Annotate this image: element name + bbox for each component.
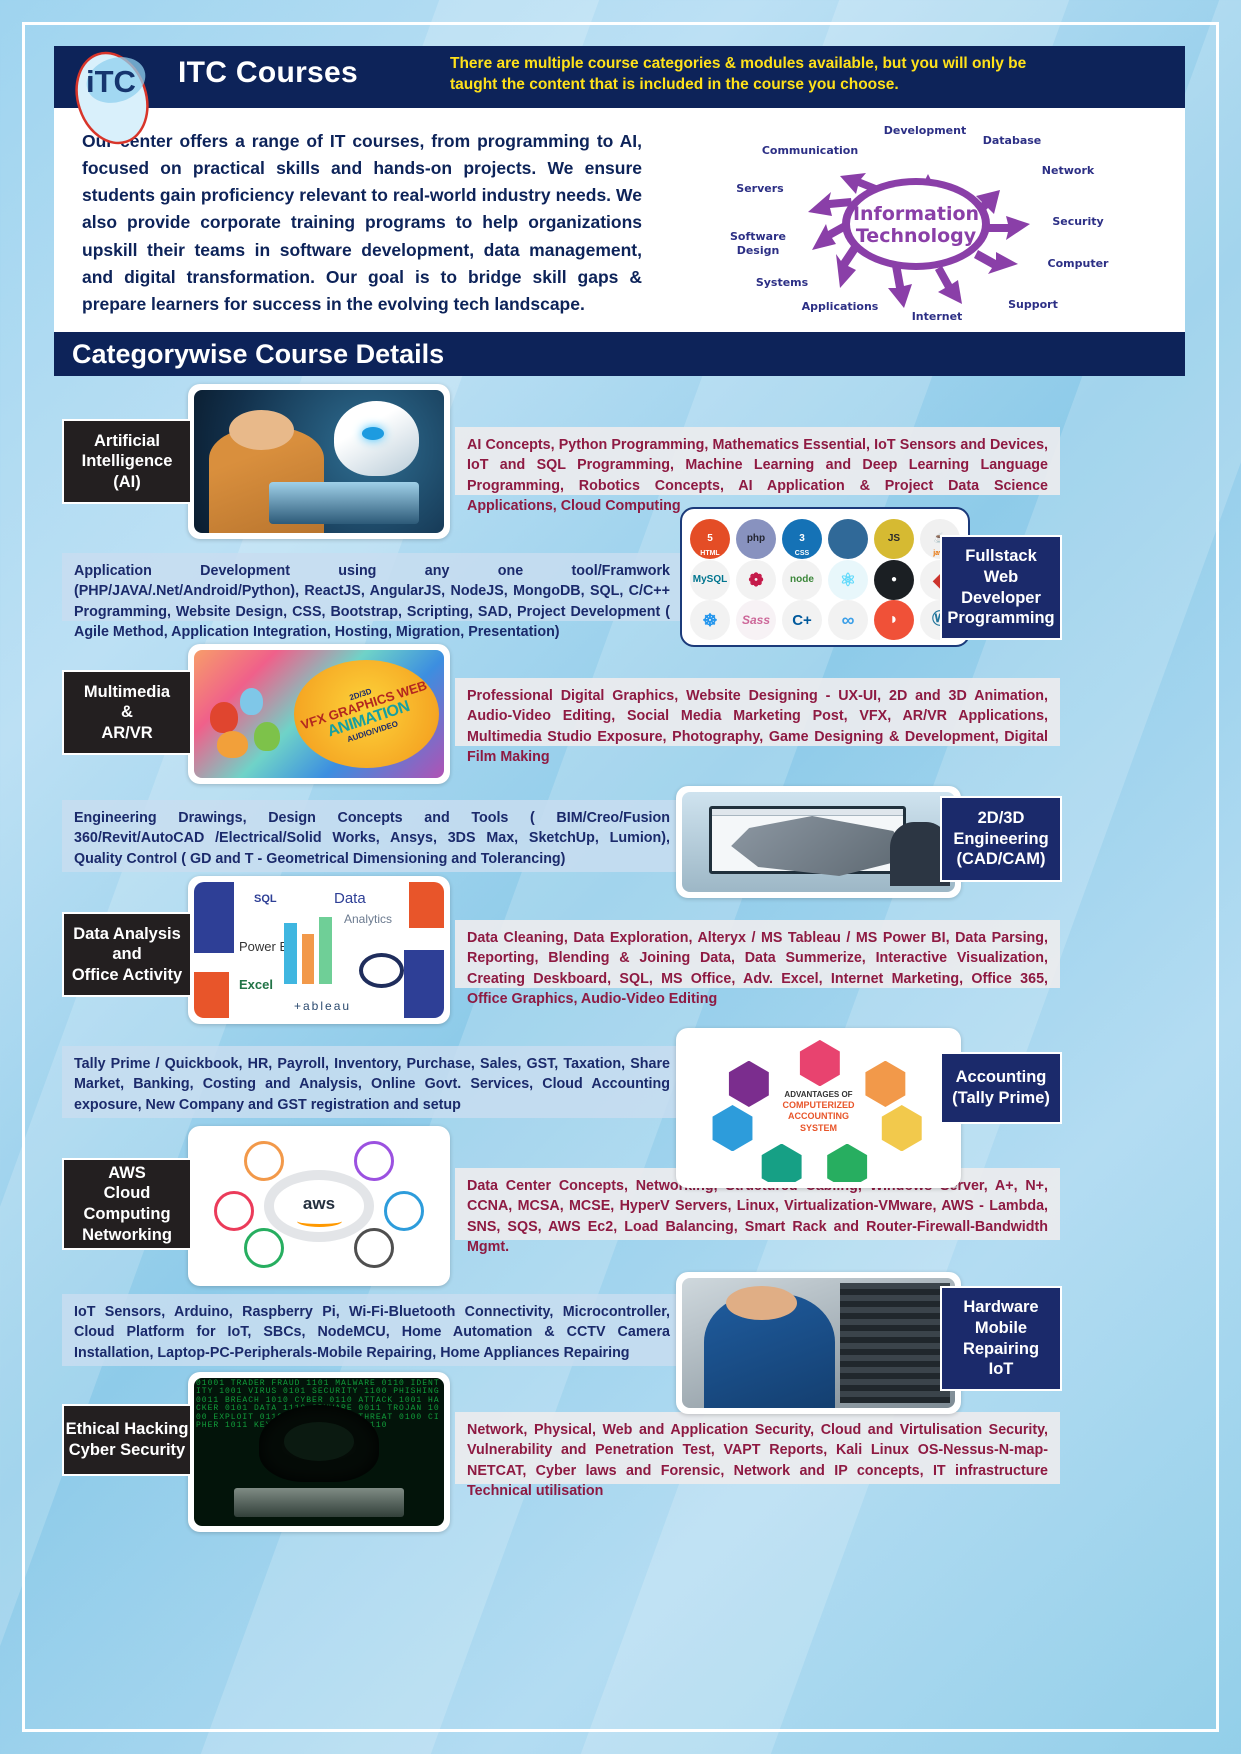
infinity-icon: ∞ bbox=[828, 600, 868, 640]
data-excel-label: Excel bbox=[239, 977, 273, 992]
it-label-security: Security bbox=[1052, 215, 1103, 228]
hex-saves-money bbox=[879, 1105, 925, 1151]
course-description-artificial-intelligence: AI Concepts, Python Programming, Mathema… bbox=[455, 427, 1060, 495]
thumbnail-artificial-intelligence bbox=[188, 384, 450, 539]
course-description-hardware-mobile-iot: IoT Sensors, Arduino, Raspberry Pi, Wi-F… bbox=[62, 1294, 682, 1366]
information-technology-diagram: Information Technology Development Datab… bbox=[700, 112, 1160, 330]
javascript-icon: JS bbox=[874, 519, 914, 559]
logo-caption: CSS bbox=[782, 550, 822, 557]
course-description-2d-3d-engineering: Engineering Drawings, Design Concepts an… bbox=[62, 800, 682, 872]
aws-node-data-streaming bbox=[214, 1191, 254, 1231]
thumbnail-data-analysis: SQL Data Analytics Power BI Excel +ablea… bbox=[188, 876, 450, 1024]
it-label-software-design-line2: Design bbox=[737, 244, 780, 257]
section-title-bar: Categorywise Course Details bbox=[54, 332, 1185, 376]
it-label-servers: Servers bbox=[736, 182, 784, 195]
github-icon: ● bbox=[874, 560, 914, 600]
data-tableau-label: +ableau bbox=[294, 999, 351, 1013]
swift-icon: ◗ bbox=[874, 600, 914, 640]
docker-icon: ☸ bbox=[690, 600, 730, 640]
category-label-aws-cloud-computing[interactable]: AWS Cloud Computing Networking bbox=[62, 1158, 192, 1250]
php-icon: php bbox=[736, 519, 776, 559]
cat-line: Artificial bbox=[82, 431, 173, 452]
toon-characters bbox=[204, 676, 309, 766]
cat-line: AWS bbox=[64, 1163, 190, 1184]
it-label-systems: Systems bbox=[756, 276, 809, 289]
category-label-2d-3d-engineering[interactable]: 2D/3D Engineering (CAD/CAM) bbox=[940, 796, 1062, 882]
hex-highly-secure bbox=[709, 1105, 755, 1151]
cat-line: Programming bbox=[947, 608, 1054, 629]
aws-node-security-compliance bbox=[244, 1228, 284, 1268]
cat-line: IoT bbox=[963, 1359, 1039, 1380]
data-sql-label: SQL bbox=[254, 893, 277, 905]
it-label-network: Network bbox=[1042, 164, 1095, 177]
sass-icon: Sass bbox=[736, 600, 776, 640]
cat-line: Networking bbox=[64, 1225, 190, 1246]
course-description-ethical-hacking: Network, Physical, Web and Application S… bbox=[455, 1412, 1060, 1484]
cat-line: (Tally Prime) bbox=[952, 1088, 1050, 1109]
acc-center2: COMPUTERIZED bbox=[783, 1100, 855, 1111]
hex-easy-tax-management bbox=[726, 1061, 772, 1107]
it-label-support: Support bbox=[1008, 298, 1058, 311]
category-label-fullstack-web-developer[interactable]: Fullstack Web Developer Programming bbox=[940, 535, 1062, 640]
thumbnail-aws: aws bbox=[188, 1126, 450, 1286]
category-label-artificial-intelligence[interactable]: Artificial Intelligence (AI) bbox=[62, 419, 192, 504]
cat-line: (AI) bbox=[82, 472, 173, 493]
react-icon: ⚛ bbox=[828, 560, 868, 600]
it-center-line2: Technology bbox=[856, 225, 977, 247]
css3-icon: 3CSS bbox=[782, 519, 822, 559]
cat-line: Multimedia bbox=[84, 682, 170, 703]
cat-line: Engineering bbox=[953, 829, 1048, 850]
thumbnail-hardware-mobile-iot bbox=[676, 1272, 961, 1414]
data-title1: Data bbox=[334, 890, 366, 907]
logo-caption: HTML bbox=[690, 550, 730, 557]
thumbnail-ethical-hacking: 01001 TRADER FRAUD 1101 MALWARE 0110 IDE… bbox=[188, 1372, 450, 1532]
it-label-internet: Internet bbox=[912, 310, 963, 323]
section-title: Categorywise Course Details bbox=[54, 339, 444, 370]
cat-line: and bbox=[72, 944, 182, 965]
cat-line: Developer bbox=[947, 588, 1054, 609]
it-label-software-design-line1: Software bbox=[730, 230, 786, 243]
acc-center1: ADVANTAGES OF bbox=[783, 1090, 855, 1100]
cat-line: 2D/3D bbox=[953, 808, 1048, 829]
it-label-development: Development bbox=[884, 124, 966, 137]
hex-invoicing bbox=[797, 1040, 843, 1086]
aws-node-web-hosting bbox=[354, 1228, 394, 1268]
node-js-icon: node bbox=[782, 560, 822, 600]
thumbnail-accounting: ADVANTAGES OF COMPUTERIZED ACCOUNTING SY… bbox=[676, 1028, 961, 1188]
it-label-computer: Computer bbox=[1048, 257, 1110, 270]
cat-line: Hardware bbox=[963, 1297, 1039, 1318]
cat-line: Web bbox=[947, 567, 1054, 588]
course-description-fullstack-web-developer: Application Development using any one to… bbox=[62, 553, 682, 621]
thumbnail-2d-3d-engineering bbox=[676, 786, 961, 898]
hex-real-time-information bbox=[758, 1144, 804, 1182]
category-label-hardware-mobile-iot[interactable]: Hardware Mobile Repairing IoT bbox=[940, 1286, 1062, 1391]
course-description-multimedia-arvr: Professional Digital Graphics, Website D… bbox=[455, 678, 1060, 746]
aws-node-compute-storage bbox=[244, 1141, 284, 1181]
category-label-accounting[interactable]: Accounting (Tally Prime) bbox=[940, 1052, 1062, 1124]
aws-node-database-service bbox=[354, 1141, 394, 1181]
cat-line: Accounting bbox=[952, 1067, 1050, 1088]
category-label-ethical-hacking[interactable]: Ethical Hacking Cyber Security bbox=[62, 1404, 192, 1476]
cat-line: Intelligence bbox=[82, 451, 173, 472]
html5-icon: 5HTML bbox=[690, 519, 730, 559]
cat-line: Mobile bbox=[963, 1318, 1039, 1339]
aws-center-label: aws bbox=[303, 1194, 335, 1214]
mysql-icon: MySQL bbox=[690, 560, 730, 600]
raspberry-pi-icon: ❁ bbox=[736, 560, 776, 600]
it-label-applications: Applications bbox=[802, 300, 879, 313]
cat-line: Cloud Computing bbox=[64, 1183, 190, 1224]
header-note: There are multiple course categories & m… bbox=[450, 54, 1070, 96]
aws-node-monitoring bbox=[384, 1191, 424, 1231]
python-icon bbox=[828, 519, 868, 559]
cat-line: AR/VR bbox=[84, 723, 170, 744]
it-label-database: Database bbox=[983, 134, 1042, 147]
it-center-line1: Information bbox=[853, 203, 979, 225]
course-description-accounting: Tally Prime / Quickbook, HR, Payroll, In… bbox=[62, 1046, 682, 1118]
hex-highly-reliable bbox=[824, 1144, 870, 1182]
cat-line: Ethical Hacking bbox=[66, 1419, 189, 1440]
category-label-data-analysis[interactable]: Data Analysis and Office Activity bbox=[62, 912, 192, 997]
acc-center4: SYSTEM bbox=[783, 1123, 855, 1134]
intro-paragraph: Our center offers a range of IT courses,… bbox=[82, 128, 642, 318]
data-title2: Analytics bbox=[344, 912, 392, 926]
itc-logo: iTC bbox=[56, 36, 176, 156]
cat-line: Office Activity bbox=[72, 965, 182, 986]
category-label-multimedia-arvr[interactable]: Multimedia & AR/VR bbox=[62, 670, 192, 755]
hex-faster-accounting bbox=[862, 1061, 908, 1107]
it-label-communication: Communication bbox=[762, 144, 858, 157]
poster-page: iTC ITC Courses There are multiple cours… bbox=[0, 0, 1241, 1754]
tech-logo-grid: 5HTMLphp3CSSJS☕javaMySQL❁node⚛●◆☸SassC+∞… bbox=[680, 507, 970, 647]
cat-line: Cyber Security bbox=[66, 1440, 189, 1461]
svg-text:iTC: iTC bbox=[86, 64, 136, 99]
course-description-data-analysis: Data Cleaning, Data Exploration, Alteryx… bbox=[455, 920, 1060, 988]
acc-center3: ACCOUNTING bbox=[783, 1111, 855, 1122]
cat-line: (CAD/CAM) bbox=[953, 849, 1048, 870]
cat-line: & bbox=[84, 702, 170, 723]
brand-title: ITC Courses bbox=[178, 56, 358, 90]
cat-line: Repairing bbox=[963, 1339, 1039, 1360]
c--icon: C+ bbox=[782, 600, 822, 640]
thumbnail-multimedia-arvr: 2D/3D VFX GRAPHICS WEB ANIMATION AUDIO/V… bbox=[188, 644, 450, 784]
cat-line: Data Analysis bbox=[72, 924, 182, 945]
cat-line: Fullstack bbox=[947, 546, 1054, 567]
